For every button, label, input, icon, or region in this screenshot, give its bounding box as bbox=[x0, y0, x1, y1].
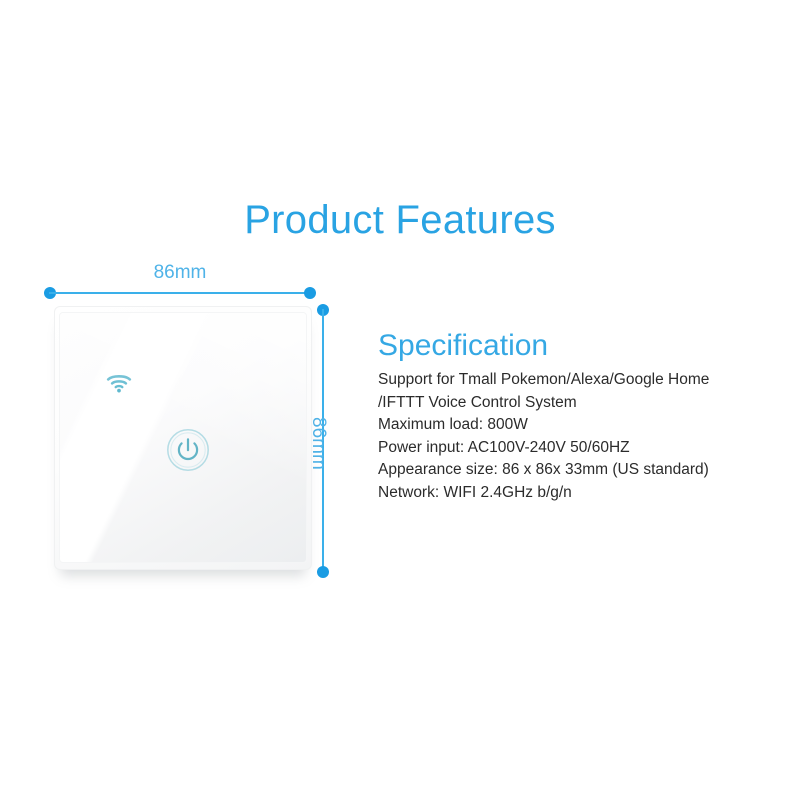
list-item: Appearance size: 86 x 86x 33mm (US stand… bbox=[378, 459, 778, 482]
width-dimension-label: 86mm bbox=[44, 262, 316, 284]
specification-list: Support for Tmall Pokemon/Alexa/Google H… bbox=[378, 369, 778, 504]
page-title: Product Features bbox=[0, 196, 800, 244]
wifi-icon bbox=[106, 373, 132, 393]
product-image-switch-panel bbox=[54, 306, 312, 574]
width-dimension-line bbox=[44, 286, 316, 300]
dimension-endpoint-dot-right bbox=[304, 287, 316, 299]
panel-glass-face bbox=[59, 312, 307, 563]
list-item: Power input: AC100V-240V 50/60HZ bbox=[378, 437, 778, 460]
list-item: Network: WIFI 2.4GHz b/g/n bbox=[378, 482, 778, 505]
dimension-line-segment bbox=[49, 292, 311, 294]
power-button[interactable] bbox=[165, 427, 211, 473]
glass-reflection-highlight bbox=[59, 312, 264, 563]
product-feature-page: Product Features 86mm 86mm bbox=[0, 0, 800, 800]
power-icon bbox=[179, 439, 197, 459]
panel-outer-frame bbox=[54, 306, 312, 570]
dimension-endpoint-dot-bottom bbox=[317, 566, 329, 578]
list-item: Maximum load: 800W bbox=[378, 414, 778, 437]
list-item: /IFTTT Voice Control System bbox=[378, 392, 778, 415]
specification-heading: Specification bbox=[378, 328, 548, 364]
list-item: Support for Tmall Pokemon/Alexa/Google H… bbox=[378, 369, 778, 392]
